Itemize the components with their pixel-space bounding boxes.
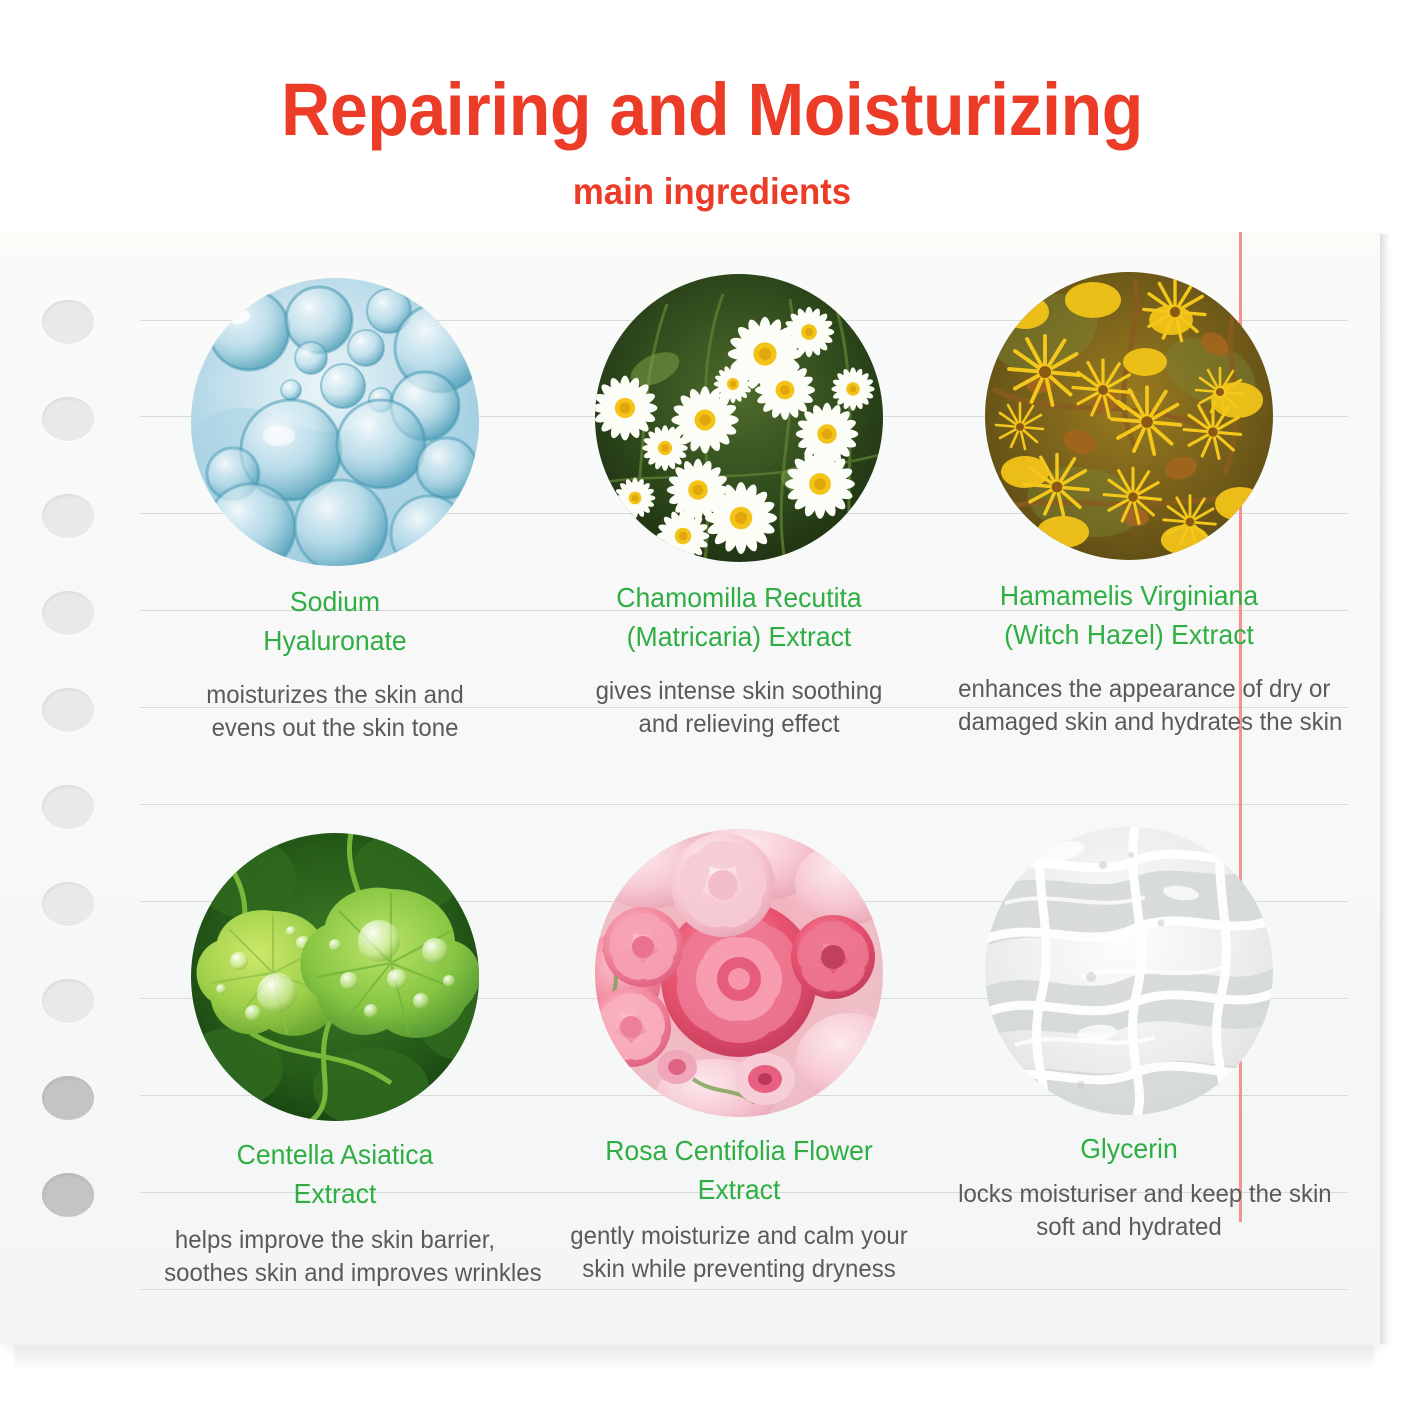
ingredient-desc-line2: damaged skin and hydrates the skin — [958, 706, 1300, 739]
ingredient-desc-line1: locks moisturiser and keep the skin — [958, 1178, 1300, 1211]
ingredient-desc-line1: gently moisturize and calm your — [568, 1220, 910, 1253]
ingredient-name-line2: Extract — [166, 1174, 504, 1214]
paper-right-edge — [1380, 234, 1389, 1344]
ingredient-desc-line2: soft and hydrated — [958, 1211, 1300, 1244]
ingredient-desc-line2: evens out the skin tone — [164, 712, 506, 745]
ingredient-image-witch-hazel — [985, 272, 1273, 560]
ingredient-desc-line1: enhances the appearance of dry or — [958, 673, 1300, 706]
ingredient-desc-line2: skin while preventing dryness — [568, 1253, 910, 1286]
ingredient-name-line1: Rosa Centifolia Flower — [570, 1131, 908, 1171]
ingredient-desc-line1: helps improve the skin barrier, — [164, 1224, 506, 1257]
ingredient-grid: Sodium Hyaluronate moisturizes the skin … — [0, 232, 1388, 1345]
ingredient-name-line1: Chamomilla Recutita — [570, 578, 908, 618]
ingredient-image-roses — [595, 829, 883, 1117]
ingredient-desc-line1: gives intense skin soothing — [568, 675, 910, 708]
ingredient-name-line2: Hyaluronate — [166, 621, 504, 661]
ingredient-card[interactable]: Centella Asiatica Extract helps improve … — [157, 833, 513, 1290]
notebook-paper-sheet: Sodium Hyaluronate moisturizes the skin … — [0, 232, 1388, 1345]
ingredient-card[interactable]: Sodium Hyaluronate moisturizes the skin … — [157, 278, 513, 745]
ingredient-name-line1: Hamamelis Virginiana — [960, 576, 1298, 616]
paper-bottom-shadow — [14, 1345, 1374, 1367]
ingredient-name-line2: Extract — [570, 1170, 908, 1210]
ingredient-name-line1: Sodium — [166, 582, 504, 622]
ingredient-image-water-bubbles — [191, 278, 479, 566]
ingredient-desc-line2: soothes skin and improves wrinkles — [164, 1257, 506, 1290]
ingredient-image-chamomile — [595, 274, 883, 562]
ingredient-desc-line2: and relieving effect — [568, 708, 910, 741]
ingredient-image-clear-gel — [985, 827, 1273, 1115]
ingredient-card[interactable]: Glycerin locks moisturiser and keep the … — [951, 827, 1307, 1244]
ingredient-name-line1: Centella Asiatica — [166, 1135, 504, 1175]
ingredient-card[interactable]: Chamomilla Recutita (Matricaria) Extract… — [561, 274, 917, 741]
ingredient-name-line2: (Matricaria) Extract — [570, 617, 908, 657]
ingredient-name-line1: Glycerin — [960, 1129, 1298, 1169]
ingredient-card[interactable]: Rosa Centifolia Flower Extract gently mo… — [561, 829, 917, 1286]
header-banner: Repairing and Moisturizing main ingredie… — [0, 0, 1424, 232]
page-subtitle: main ingredients — [43, 170, 1382, 214]
ingredient-desc-line1: moisturizes the skin and — [164, 679, 506, 712]
ingredient-image-centella — [191, 833, 479, 1121]
ingredient-card[interactable]: Hamamelis Virginiana (Witch Hazel) Extra… — [951, 272, 1307, 739]
ingredient-name-line2: (Witch Hazel) Extract — [960, 615, 1298, 655]
page-title: Repairing and Moisturizing — [57, 68, 1367, 152]
